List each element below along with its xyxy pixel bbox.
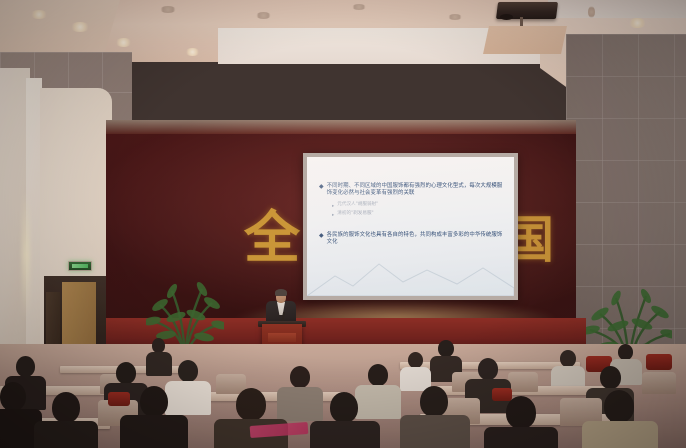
slide-sub-bullet: ▸ 清初的"剃发易服" <box>332 211 504 218</box>
bullet-marker-icon: ◆ <box>319 183 324 198</box>
downlight <box>628 18 647 28</box>
downlight <box>30 10 48 19</box>
ceiling-vent <box>588 6 595 18</box>
bullet-text: 不同时期、不同区域的中国服饰都有强烈的心理文化型式，每次大规模服饰变化必然与社会… <box>327 183 504 198</box>
sub-bullet-marker-icon: ▸ <box>332 211 334 218</box>
slide-bullet: ◆ 各民族的服饰文化也具有各自的特色，共同构成丰富多彩的中华传统服饰文化 <box>319 232 504 247</box>
ceiling-vent <box>160 6 176 13</box>
downlight <box>115 38 132 47</box>
seat <box>108 392 130 406</box>
projector-lens-icon <box>500 14 513 20</box>
seat <box>642 372 676 394</box>
slide-content: ◆ 不同时期、不同区域的中国服饰都有强烈的心理文化型式，每次大规模服饰变化必然与… <box>319 183 504 251</box>
exit-sign-icon <box>68 261 92 271</box>
ceiling-vent <box>352 4 366 10</box>
projection-screen: ◆ 不同时期、不同区域的中国服饰都有强烈的心理文化型式，每次大规模服饰变化必然与… <box>307 157 514 296</box>
downlight <box>70 22 90 32</box>
sub-bullet-marker-icon: ▸ <box>332 202 334 209</box>
bullet-marker-icon: ◆ <box>319 232 324 247</box>
podium-front-plate <box>268 333 296 342</box>
seat <box>492 388 512 401</box>
projector-ceiling-plate <box>483 26 567 54</box>
lecture-hall-photo: 全 国 ◆ 不同时期、不同区域的中国服饰都有强烈的心理文化型式，每次大规模服饰变… <box>0 0 686 448</box>
bullet-text: 各民族的服饰文化也具有各自的特色，共同构成丰富多彩的中华传统服饰文化 <box>327 232 504 247</box>
speaker-hair <box>275 289 287 296</box>
downlight <box>185 48 200 56</box>
seat <box>508 372 538 392</box>
ceiling-vent <box>256 12 271 19</box>
seat <box>646 354 672 370</box>
slide-bullet: ◆ 不同时期、不同区域的中国服饰都有强烈的心理文化型式，每次大规模服饰变化必然与… <box>319 183 504 198</box>
pillar-light-strip <box>22 190 30 320</box>
ceiling-vent <box>448 14 462 20</box>
slide-mountain-graphic <box>307 254 514 296</box>
sub-bullet-text: 元代汉人"胡服骑射" <box>337 202 378 209</box>
backdrop-gold-character: 全 <box>244 193 300 274</box>
slide-sub-bullet: ▸ 元代汉人"胡服骑射" <box>332 202 504 209</box>
sub-bullet-text: 清初的"剃发易服" <box>337 211 373 218</box>
